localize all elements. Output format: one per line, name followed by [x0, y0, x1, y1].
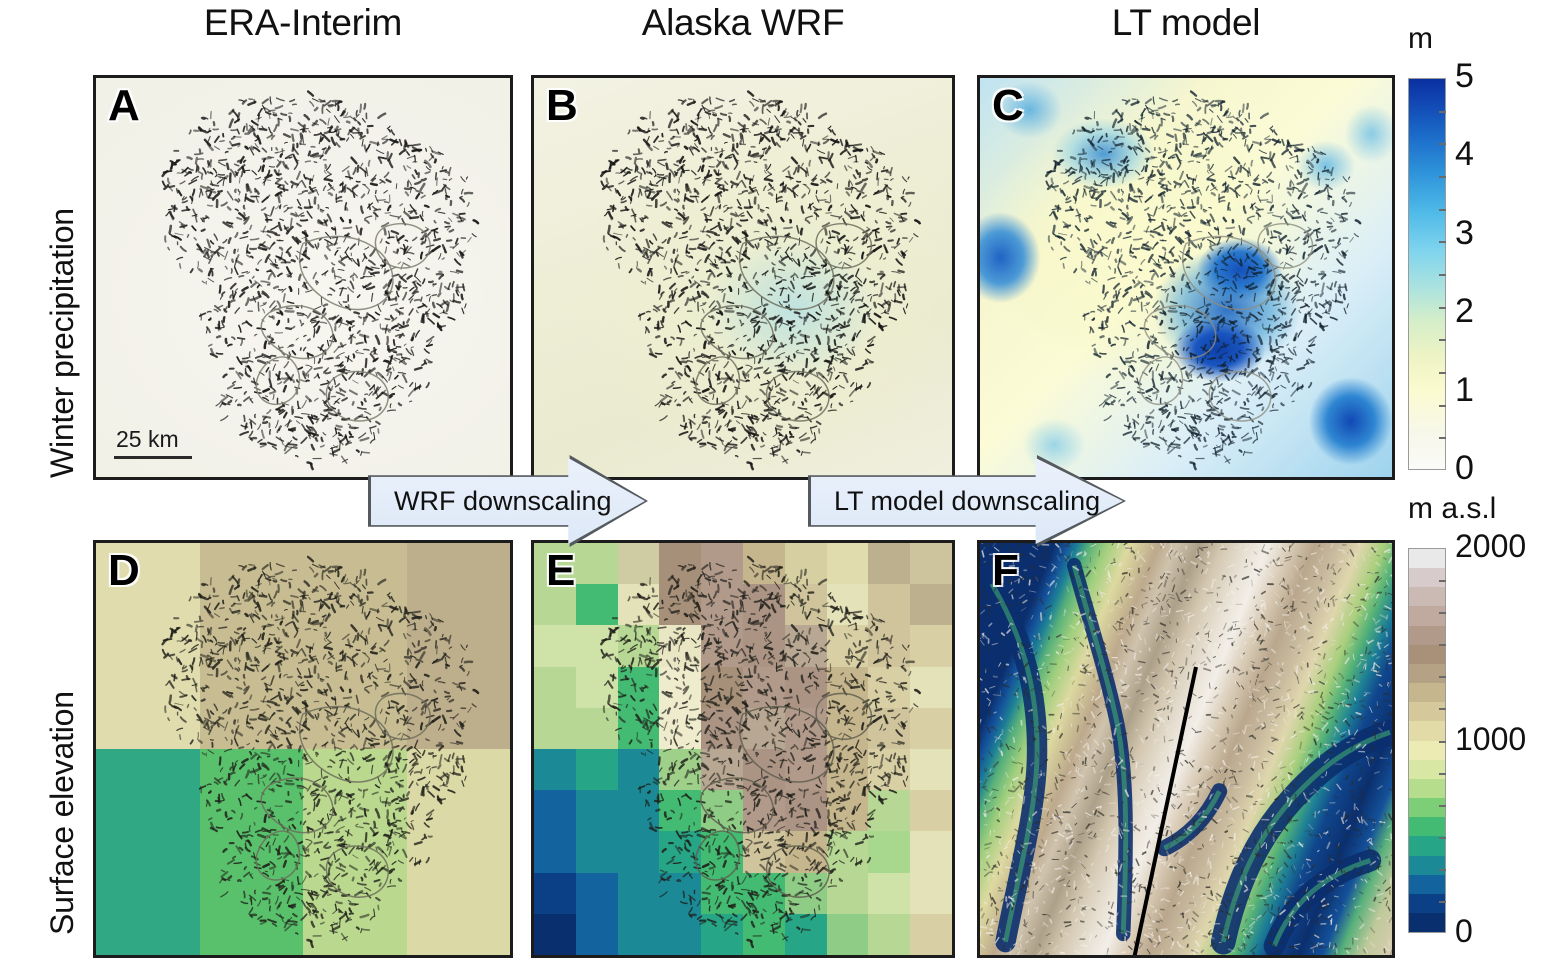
panel-letter-f: F [992, 549, 1019, 593]
elevation-alaska-wrf-cell [910, 914, 952, 955]
elevation-alaska-wrf-cell [576, 873, 618, 914]
panel-letter-b: B [546, 84, 578, 128]
elevation-alaska-wrf-cell [534, 790, 576, 831]
colorbar-band-elevation [1409, 606, 1445, 625]
panel-letter-c: C [992, 84, 1024, 128]
elevation-era-interim-cell [303, 543, 407, 749]
elevation-alaska-wrf-cell [868, 873, 910, 914]
elevation-alaska-wrf-cell [701, 625, 743, 666]
precipitation-field-c [980, 78, 1392, 477]
elevation-alaska-wrf-cell [910, 873, 952, 914]
colorbar-unit-elevation: m a.s.l [1408, 492, 1496, 526]
elevation-alaska-wrf-cell [701, 914, 743, 955]
colorbar-minor-tick [1439, 580, 1446, 582]
elevation-alaska-wrf-cell [910, 708, 952, 749]
elevation-alaska-wrf-cell [576, 543, 618, 584]
elevation-alaska-wrf-cell [576, 831, 618, 872]
elevation-alaska-wrf-cell [576, 584, 618, 625]
elevation-grid-era-interim [96, 543, 510, 955]
arrow-lt-model-downscaling: LT model downscaling [808, 455, 1126, 547]
elevation-alaska-wrf-cell [576, 625, 618, 666]
colorbar-band-elevation [1409, 587, 1445, 606]
elevation-grid-alaska-wrf [534, 543, 952, 955]
arrow-label-wrf-downscaling: WRF downscaling [368, 486, 612, 517]
elevation-alaska-wrf-cell [785, 625, 827, 666]
colorbar-minor-tick [1439, 143, 1446, 145]
panel-letter-a: A [108, 84, 140, 128]
colorbar-minor-tick [1439, 372, 1446, 374]
panel-e-alaska-wrf-elevation: E [531, 540, 955, 958]
colorbar-minor-tick [1439, 339, 1446, 341]
colorbar-tick-label: 2 [1455, 292, 1474, 331]
colorbar-band-elevation [1409, 683, 1445, 702]
elevation-alaska-wrf-cell [618, 914, 660, 955]
elevation-alaska-wrf-cell [827, 790, 869, 831]
elevation-alaska-wrf-cell [701, 790, 743, 831]
scalebar: 25 km [114, 427, 192, 459]
colorbar-minor-tick [1439, 274, 1446, 276]
elevation-alaska-wrf-cell [618, 584, 660, 625]
elevation-era-interim-cell [407, 543, 511, 749]
elevation-alaska-wrf-cell [910, 790, 952, 831]
colorbar-band-elevation [1409, 702, 1445, 721]
colorbar-minor-tick [1439, 405, 1446, 407]
panel-letter-d: D [108, 549, 140, 593]
elevation-alaska-wrf-cell [743, 873, 785, 914]
elevation-alaska-wrf-cell [743, 543, 785, 584]
colorbar-minor-tick [1439, 676, 1446, 678]
colorbar-band-elevation [1409, 568, 1445, 587]
panel-c-lt-model-precipitation: C [977, 75, 1395, 480]
elevation-alaska-wrf-cell [659, 667, 701, 708]
colorbar-minor-tick [1439, 111, 1446, 113]
elevation-alaska-wrf-cell [910, 667, 952, 708]
elevation-alaska-wrf-cell [534, 708, 576, 749]
elevation-alaska-wrf-cell [868, 667, 910, 708]
elevation-alaska-wrf-cell [868, 749, 910, 790]
elevation-era-interim-cell [96, 749, 200, 955]
row-label-winter-precipitation: Winter precipitation [44, 208, 81, 478]
elevation-alaska-wrf-cell [701, 543, 743, 584]
colorbar-band-elevation [1409, 626, 1445, 645]
elevation-alaska-wrf-cell [785, 708, 827, 749]
elevation-alaska-wrf-cell [701, 831, 743, 872]
elevation-era-interim-cell [200, 543, 304, 749]
column-title-alaska-wrf: Alaska WRF [531, 2, 955, 44]
elevation-alaska-wrf-cell [701, 584, 743, 625]
colorbar-minor-tick [1439, 837, 1446, 839]
elevation-alaska-wrf-cell [701, 749, 743, 790]
elevation-alaska-wrf-cell [659, 584, 701, 625]
elevation-alaska-wrf-cell [910, 625, 952, 666]
colorbar-band-elevation [1409, 913, 1445, 932]
elevation-alaska-wrf-cell [659, 543, 701, 584]
column-title-era-interim: ERA-Interim [93, 2, 513, 44]
elevation-alaska-wrf-cell [827, 831, 869, 872]
elevation-alaska-wrf-cell [785, 831, 827, 872]
colorbar-minor-tick [1439, 644, 1446, 646]
elevation-alaska-wrf-cell [534, 749, 576, 790]
precipitation-field-a [96, 78, 510, 477]
elevation-alaska-wrf-cell [910, 543, 952, 584]
precipitation-field-b [534, 78, 952, 477]
elevation-alaska-wrf-cell [659, 625, 701, 666]
colorbar-minor-tick [1439, 869, 1446, 871]
column-title-lt-model: LT model [977, 2, 1395, 44]
colorbar-band-elevation [1409, 894, 1445, 913]
colorbar-band-elevation [1409, 875, 1445, 894]
colorbar-band-elevation [1409, 664, 1445, 683]
elevation-alaska-wrf-cell [743, 790, 785, 831]
arrow-wrf-downscaling: WRF downscaling [368, 455, 648, 547]
colorbar-band-elevation [1409, 836, 1445, 855]
elevation-alaska-wrf-cell [576, 749, 618, 790]
elevation-alaska-wrf-cell [827, 584, 869, 625]
elevation-alaska-wrf-cell [618, 873, 660, 914]
elevation-alaska-wrf-cell [659, 749, 701, 790]
elevation-alaska-wrf-cell [576, 914, 618, 955]
colorbar-minor-tick [1439, 805, 1446, 807]
colorbar-tick-label: 1 [1455, 371, 1474, 410]
colorbar-tick-label: 2000 [1455, 528, 1526, 565]
elevation-alaska-wrf-cell [701, 873, 743, 914]
elevation-alaska-wrf-cell [618, 543, 660, 584]
panel-letter-e: E [546, 549, 575, 593]
elevation-alaska-wrf-cell [785, 584, 827, 625]
colorbar-band-elevation [1409, 856, 1445, 875]
elevation-alaska-wrf-cell [785, 543, 827, 584]
elevation-alaska-wrf-cell [659, 708, 701, 749]
elevation-alaska-wrf-cell [743, 667, 785, 708]
elevation-alaska-wrf-cell [910, 831, 952, 872]
elevation-alaska-wrf-cell [910, 584, 952, 625]
elevation-era-interim-cell [200, 749, 304, 955]
panel-b-alaska-wrf-precipitation: B [531, 75, 955, 480]
elevation-alaska-wrf-cell [701, 667, 743, 708]
elevation-terrain-lt-model [980, 543, 1392, 955]
elevation-alaska-wrf-cell [534, 914, 576, 955]
colorbar-tick-label: 0 [1455, 449, 1474, 488]
colorbar-band-elevation [1409, 721, 1445, 740]
elevation-alaska-wrf-cell [827, 543, 869, 584]
panel-d-era-interim-elevation: D [93, 540, 513, 958]
elevation-alaska-wrf-cell [910, 749, 952, 790]
panel-a-era-interim-precipitation: 25 km A [93, 75, 513, 480]
elevation-alaska-wrf-cell [576, 667, 618, 708]
colorbar-minor-tick [1439, 741, 1446, 743]
colorbar-band-elevation [1409, 549, 1445, 568]
colorbar-minor-tick [1439, 901, 1446, 903]
colorbar-tick-label: 0 [1455, 913, 1473, 950]
colorbar-band-elevation [1409, 817, 1445, 836]
elevation-alaska-wrf-cell [827, 914, 869, 955]
colorbar-minor-tick [1439, 307, 1446, 309]
elevation-alaska-wrf-cell [743, 831, 785, 872]
colorbar-band-elevation [1409, 779, 1445, 798]
elevation-alaska-wrf-cell [868, 708, 910, 749]
colorbar-minor-tick [1439, 708, 1446, 710]
colorbar-tick-label: 1000 [1455, 721, 1526, 758]
elevation-alaska-wrf-cell [868, 790, 910, 831]
elevation-alaska-wrf-cell [743, 749, 785, 790]
colorbar-unit-precipitation: m [1408, 22, 1433, 56]
elevation-alaska-wrf-cell [618, 708, 660, 749]
elevation-alaska-wrf-cell [743, 625, 785, 666]
scalebar-label: 25 km [114, 427, 192, 452]
elevation-alaska-wrf-cell [534, 873, 576, 914]
elevation-alaska-wrf-cell [743, 584, 785, 625]
elevation-era-interim-cell [303, 749, 407, 955]
elevation-alaska-wrf-cell [785, 873, 827, 914]
colorbar-minor-tick [1439, 176, 1446, 178]
elevation-alaska-wrf-cell [827, 708, 869, 749]
elevation-alaska-wrf-cell [659, 873, 701, 914]
colorbar-band-elevation [1409, 741, 1445, 760]
elevation-alaska-wrf-cell [701, 708, 743, 749]
elevation-alaska-wrf-cell [576, 708, 618, 749]
colorbar-minor-tick [1439, 773, 1446, 775]
colorbar-minor-tick [1439, 209, 1446, 211]
colorbar-tick-label: 3 [1455, 214, 1474, 253]
elevation-alaska-wrf-cell [827, 749, 869, 790]
elevation-alaska-wrf-cell [785, 914, 827, 955]
colorbar-band-elevation [1409, 645, 1445, 664]
arrow-label-lt-model-downscaling: LT model downscaling [808, 486, 1100, 517]
elevation-alaska-wrf-cell [659, 914, 701, 955]
elevation-alaska-wrf-cell [618, 790, 660, 831]
colorbar-minor-tick [1439, 437, 1446, 439]
elevation-alaska-wrf-cell [534, 831, 576, 872]
panel-f-lt-model-elevation: F [977, 540, 1395, 958]
scalebar-line [114, 456, 192, 459]
colorbar-minor-tick [1439, 241, 1446, 243]
elevation-alaska-wrf-cell [659, 831, 701, 872]
colorbar-tick-label: 5 [1455, 57, 1474, 96]
elevation-alaska-wrf-cell [868, 543, 910, 584]
elevation-alaska-wrf-cell [785, 667, 827, 708]
figure-root: ERA-Interim Alaska WRF LT model Winter p… [0, 0, 1547, 960]
elevation-alaska-wrf-cell [534, 667, 576, 708]
elevation-alaska-wrf-cell [743, 708, 785, 749]
elevation-alaska-wrf-cell [534, 625, 576, 666]
colorbar-band-elevation [1409, 798, 1445, 817]
elevation-era-interim-cell [407, 749, 511, 955]
elevation-alaska-wrf-cell [827, 625, 869, 666]
elevation-alaska-wrf-cell [618, 749, 660, 790]
row-label-surface-elevation: Surface elevation [44, 691, 81, 935]
colorbar-minor-tick [1439, 612, 1446, 614]
colorbar-tick-label: 4 [1455, 135, 1474, 174]
elevation-alaska-wrf-cell [618, 625, 660, 666]
elevation-alaska-wrf-cell [827, 667, 869, 708]
elevation-alaska-wrf-cell [868, 914, 910, 955]
elevation-alaska-wrf-cell [743, 914, 785, 955]
elevation-alaska-wrf-cell [576, 790, 618, 831]
elevation-alaska-wrf-cell [785, 790, 827, 831]
elevation-alaska-wrf-cell [618, 831, 660, 872]
elevation-alaska-wrf-cell [868, 831, 910, 872]
elevation-alaska-wrf-cell [785, 749, 827, 790]
elevation-alaska-wrf-cell [868, 625, 910, 666]
colorbar-band-elevation [1409, 760, 1445, 779]
elevation-alaska-wrf-cell [827, 873, 869, 914]
elevation-alaska-wrf-cell [618, 667, 660, 708]
elevation-alaska-wrf-cell [868, 584, 910, 625]
elevation-alaska-wrf-cell [659, 790, 701, 831]
